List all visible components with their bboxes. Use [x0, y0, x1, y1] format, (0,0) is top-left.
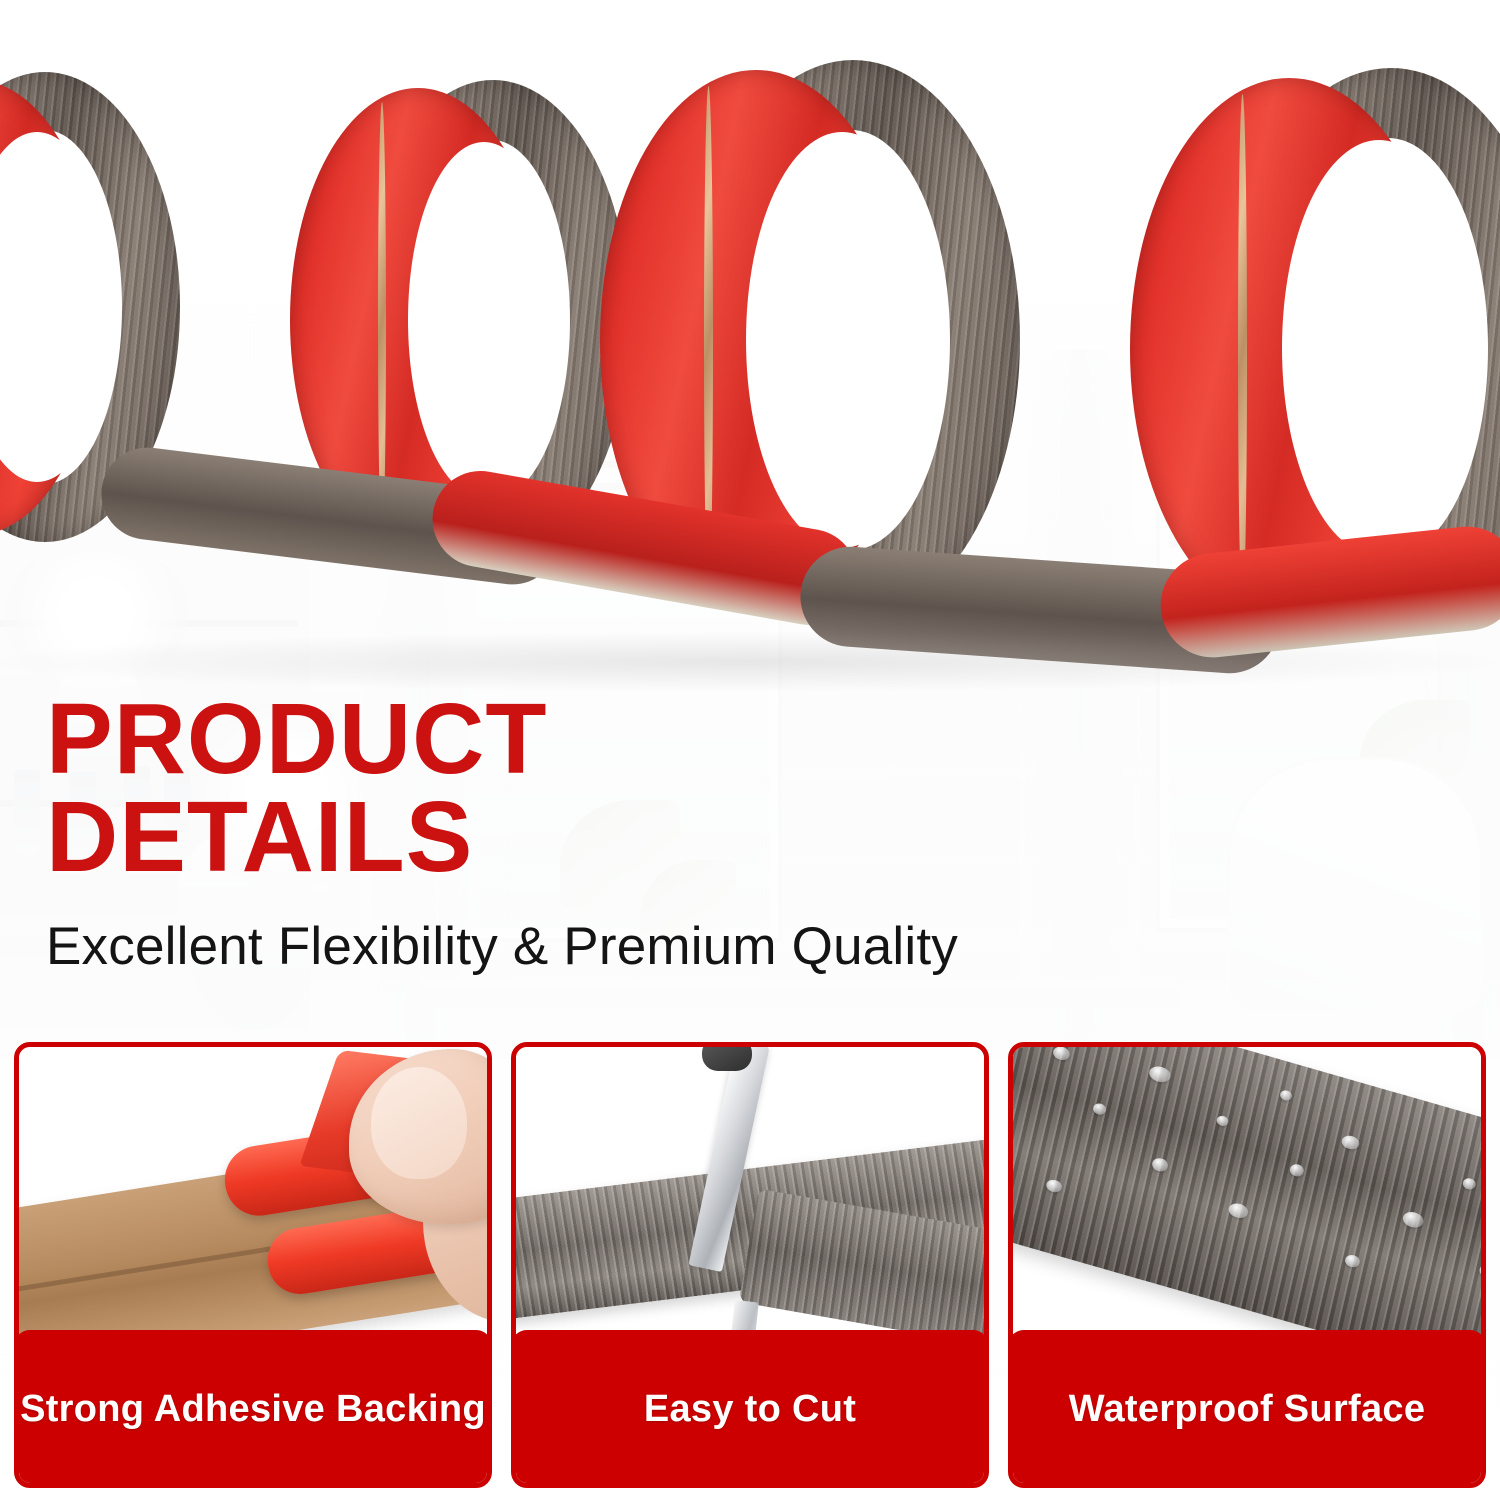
- panel-caption-text: Easy to Cut: [644, 1388, 856, 1431]
- scissors-pivot: [702, 1047, 752, 1071]
- water-droplet: [1092, 1102, 1108, 1116]
- panel-caption-bar: Easy to Cut: [511, 1330, 989, 1488]
- panel-caption-bar: Waterproof Surface: [1008, 1330, 1486, 1488]
- feature-panel-easy-to-cut[interactable]: Easy to Cut: [511, 1042, 989, 1488]
- water-droplet: [1478, 1263, 1481, 1280]
- water-droplet: [1288, 1163, 1305, 1178]
- adhesive-stripe: [378, 102, 386, 540]
- water-droplet: [1279, 1089, 1293, 1102]
- feature-panel-waterproof[interactable]: Waterproof Surface: [1008, 1042, 1486, 1488]
- panel-caption-text: Waterproof Surface: [1069, 1388, 1426, 1431]
- panel-caption-bar: Strong Adhesive Backing: [14, 1330, 492, 1488]
- feature-panel-adhesive[interactable]: Strong Adhesive Backing: [14, 1042, 492, 1488]
- water-droplet: [1227, 1201, 1250, 1220]
- page-title-line-1: PRODUCT: [46, 690, 1326, 788]
- hero-coiled-tape: [0, 0, 1500, 720]
- page-title-line-2: DETAILS: [46, 788, 1326, 886]
- red-inner-cutout: [746, 132, 938, 548]
- water-droplet: [1215, 1114, 1229, 1127]
- adhesive-stripe: [1238, 94, 1247, 606]
- water-droplet: [1045, 1178, 1064, 1194]
- water-droplet: [1401, 1210, 1425, 1230]
- page-title: PRODUCT DETAILS: [46, 690, 1326, 886]
- headline-block: PRODUCT DETAILS Excellent Flexibility & …: [46, 690, 1326, 977]
- red-inner-cutout: [1282, 140, 1476, 556]
- thumbnail: [371, 1067, 467, 1179]
- water-droplet: [1340, 1134, 1361, 1151]
- water-droplet: [1462, 1177, 1478, 1191]
- product-details-infographic: PRODUCT DETAILS Excellent Flexibility & …: [0, 0, 1500, 1500]
- water-droplet: [1147, 1064, 1172, 1084]
- water-droplet: [1051, 1047, 1071, 1062]
- water-droplet: [1151, 1156, 1170, 1173]
- red-inner-cutout: [408, 142, 560, 498]
- feature-panels: Strong Adhesive Backing Easy to Cut: [14, 1042, 1486, 1488]
- panel-caption-text: Strong Adhesive Backing: [20, 1388, 486, 1431]
- page-subtitle: Excellent Flexibility & Premium Quality: [46, 916, 1326, 977]
- water-droplet: [1344, 1253, 1362, 1269]
